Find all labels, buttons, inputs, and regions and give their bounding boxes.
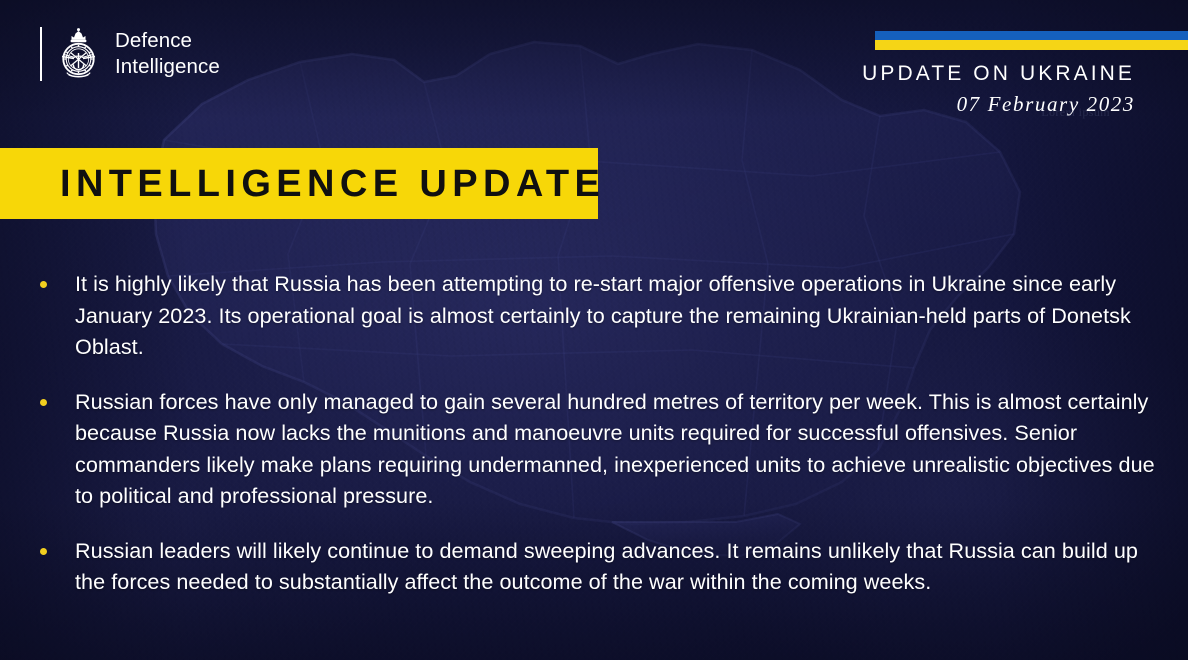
update-title: UPDATE ON UKRAINE — [862, 61, 1135, 87]
flag-yellow-stripe — [875, 40, 1188, 50]
banner-headline: INTELLIGENCE UPDATE — [60, 165, 605, 203]
bullet-list: It is highly likely that Russia has been… — [40, 268, 1160, 598]
bullet-paragraph: It is highly likely that Russia has been… — [75, 268, 1160, 363]
update-heading-block: UPDATE ON UKRAINE 07 February 2023 — [862, 61, 1135, 118]
list-item: It is highly likely that Russia has been… — [40, 268, 1160, 363]
brand-name-label: Defence Intelligence — [115, 28, 220, 80]
brand-divider-rule — [40, 27, 42, 81]
intelligence-update-banner: INTELLIGENCE UPDATE — [0, 148, 598, 219]
bullet-dot-icon — [40, 399, 47, 406]
defence-intelligence-crest-icon — [55, 27, 102, 81]
bullet-dot-icon — [40, 548, 47, 555]
brand-lockup: Defence Intelligence — [40, 27, 220, 81]
update-date: 07 February 2023 — [862, 91, 1135, 117]
flag-blue-stripe — [875, 31, 1188, 40]
bullet-paragraph: Russian forces have only managed to gain… — [75, 386, 1160, 512]
bullet-paragraph: Russian leaders will likely continue to … — [75, 535, 1160, 598]
list-item: Russian leaders will likely continue to … — [40, 535, 1160, 598]
bullet-dot-icon — [40, 281, 47, 288]
list-item: Russian forces have only managed to gain… — [40, 386, 1160, 512]
ukraine-flag-bar — [875, 31, 1188, 50]
